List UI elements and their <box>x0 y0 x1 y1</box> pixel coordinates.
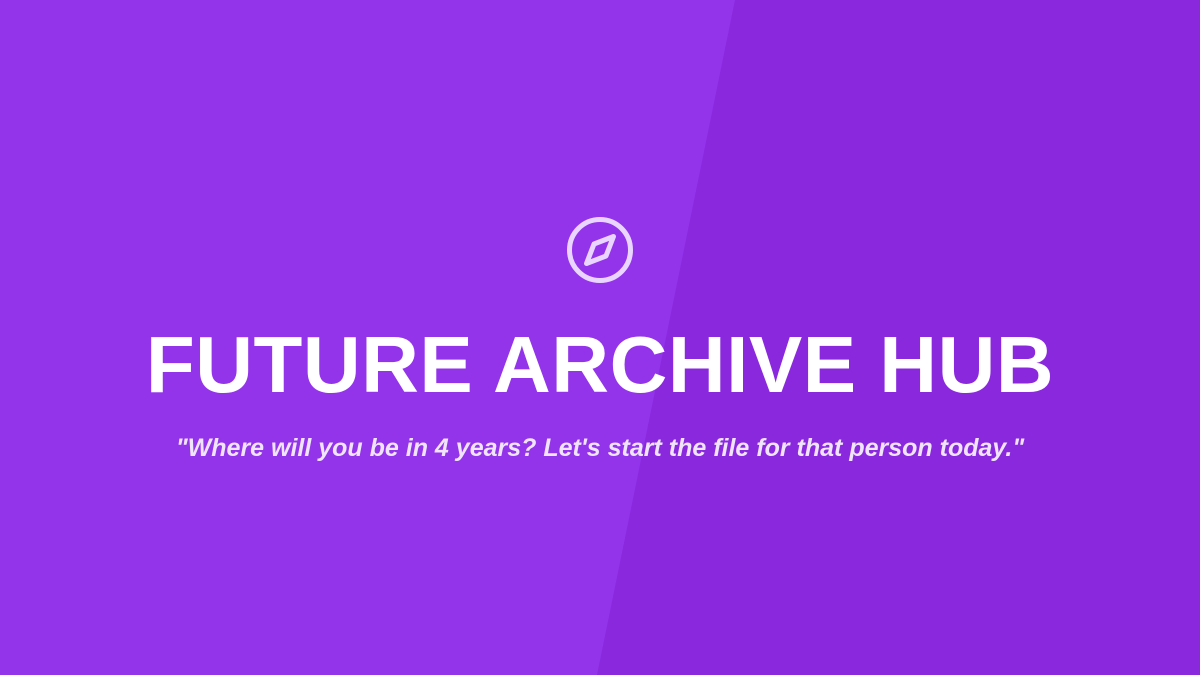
slide-tagline: "Where will you be in 4 years? Let's sta… <box>176 433 1024 463</box>
title-slide: FUTURE ARCHIVE HUB "Where will you be in… <box>0 0 1200 675</box>
page-title: FUTURE ARCHIVE HUB <box>146 325 1054 405</box>
compass-icon <box>563 213 637 287</box>
slide-content: FUTURE ARCHIVE HUB "Where will you be in… <box>0 0 1200 675</box>
